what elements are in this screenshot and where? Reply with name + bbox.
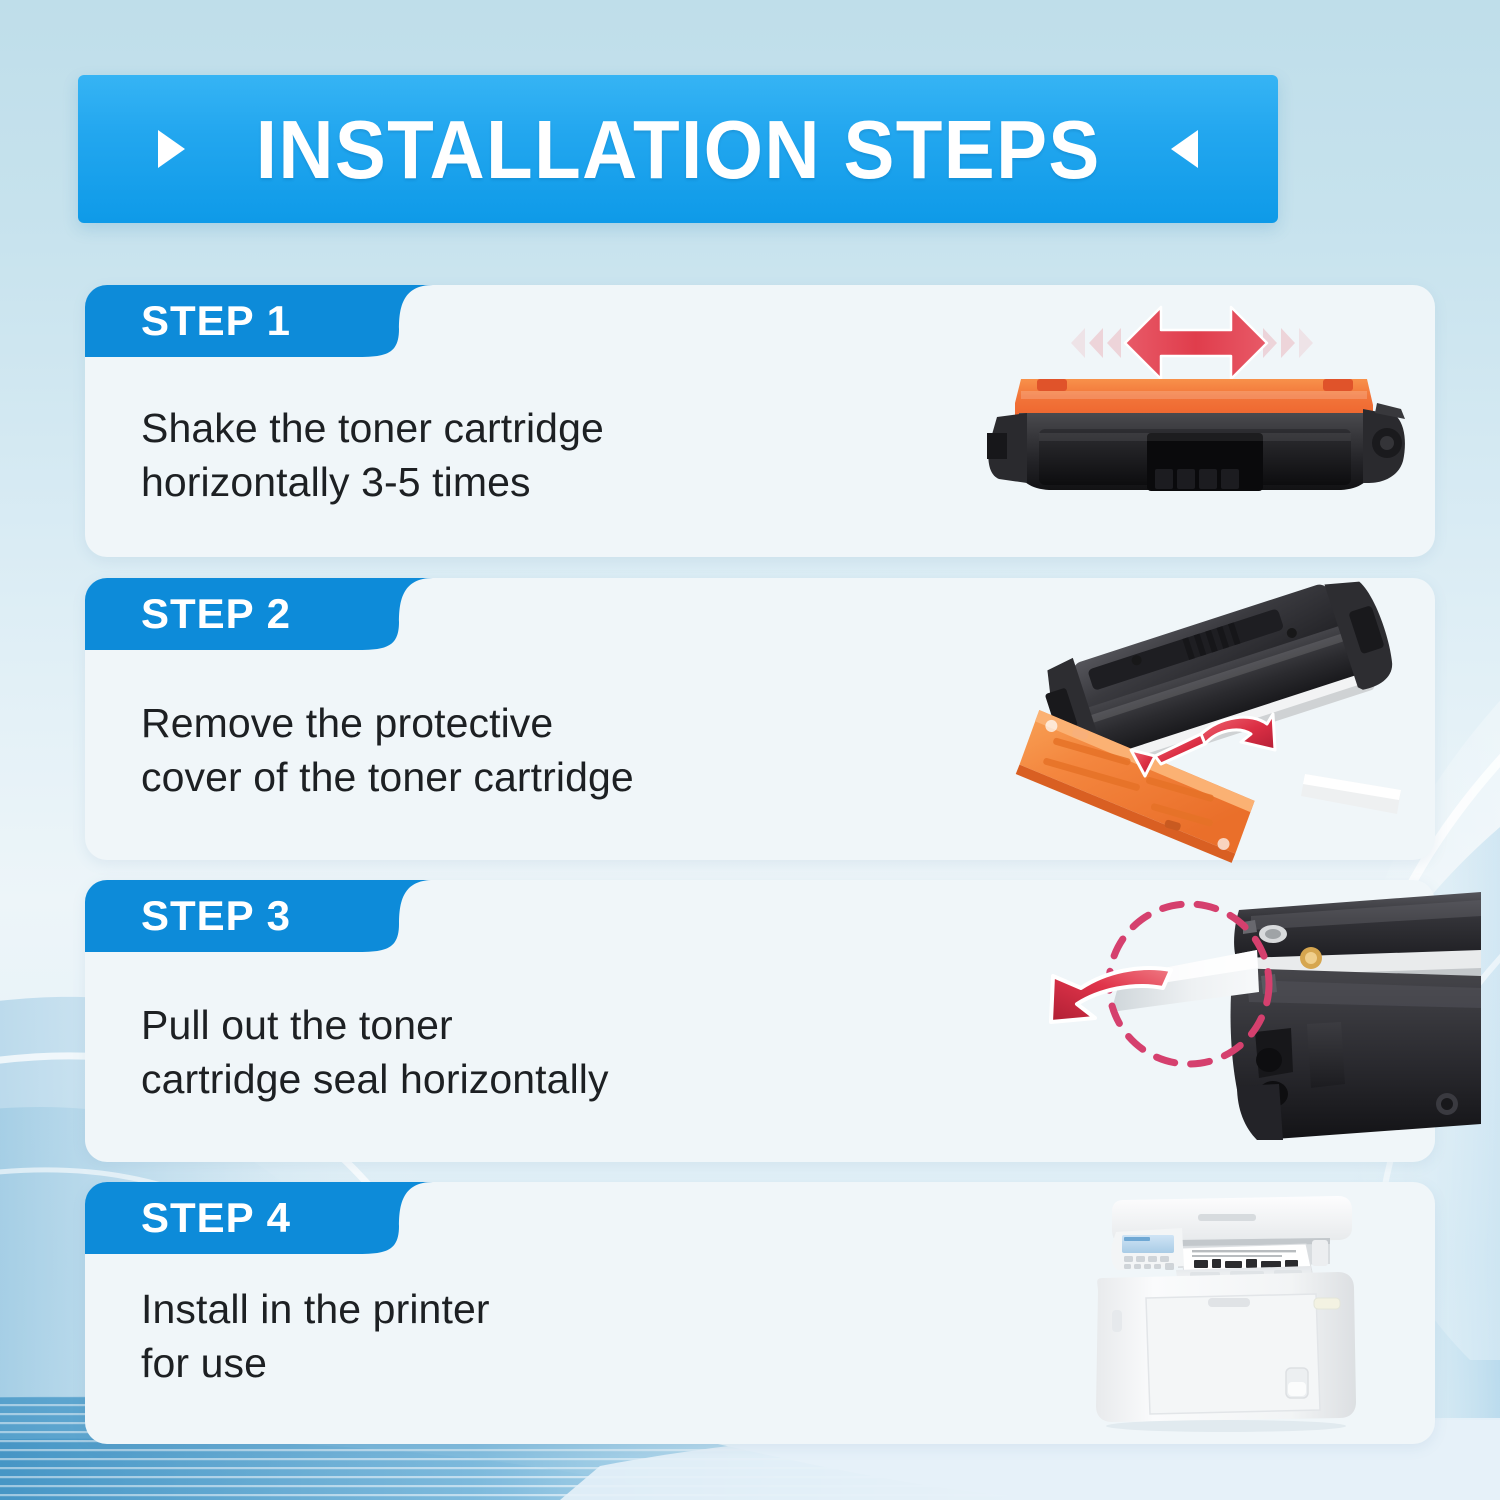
toner-cartridge-shake-illustration [975,283,1415,533]
page-title: INSTALLATION STEPS [255,108,1100,191]
triangle-right-icon [158,130,185,168]
tab-curve-4 [359,1182,433,1294]
step-label-4: STEP 4 [141,1197,291,1239]
step-label-1: STEP 1 [141,300,291,342]
laser-printer-illustration [1080,1186,1380,1436]
toner-cartridge-pull-seal-illustration [1011,872,1481,1172]
infographic-page: INSTALLATION STEPS STEP 1 Shake the tone… [0,0,1500,1500]
step-card-4: STEP 4 Install in the printer for use [85,1182,1435,1444]
step-text-2: Remove the protective cover of the toner… [141,696,634,804]
step-card-2: STEP 2 Remove the protective cover of th… [85,578,1435,860]
step-tab-3: STEP 3 [85,880,363,952]
triangle-left-icon [1171,130,1198,168]
tab-curve-2 [359,578,433,690]
header-banner: INSTALLATION STEPS [78,75,1278,223]
step-label-3: STEP 3 [141,895,291,937]
toner-cartridge-remove-cover-illustration [1005,574,1425,854]
step-card-1: STEP 1 Shake the toner cartridge horizon… [85,285,1435,557]
step-text-1: Shake the toner cartridge horizontally 3… [141,401,604,509]
step-tab-4: STEP 4 [85,1182,363,1254]
step-tab-2: STEP 2 [85,578,363,650]
step-text-4: Install in the printer for use [141,1282,490,1390]
step-text-3: Pull out the toner cartridge seal horizo… [141,998,609,1106]
step-tab-1: STEP 1 [85,285,363,357]
step-label-2: STEP 2 [141,593,291,635]
step-card-3: STEP 3 Pull out the toner cartridge seal… [85,880,1435,1162]
tab-curve-3 [359,880,433,992]
tab-curve-1 [359,285,433,397]
